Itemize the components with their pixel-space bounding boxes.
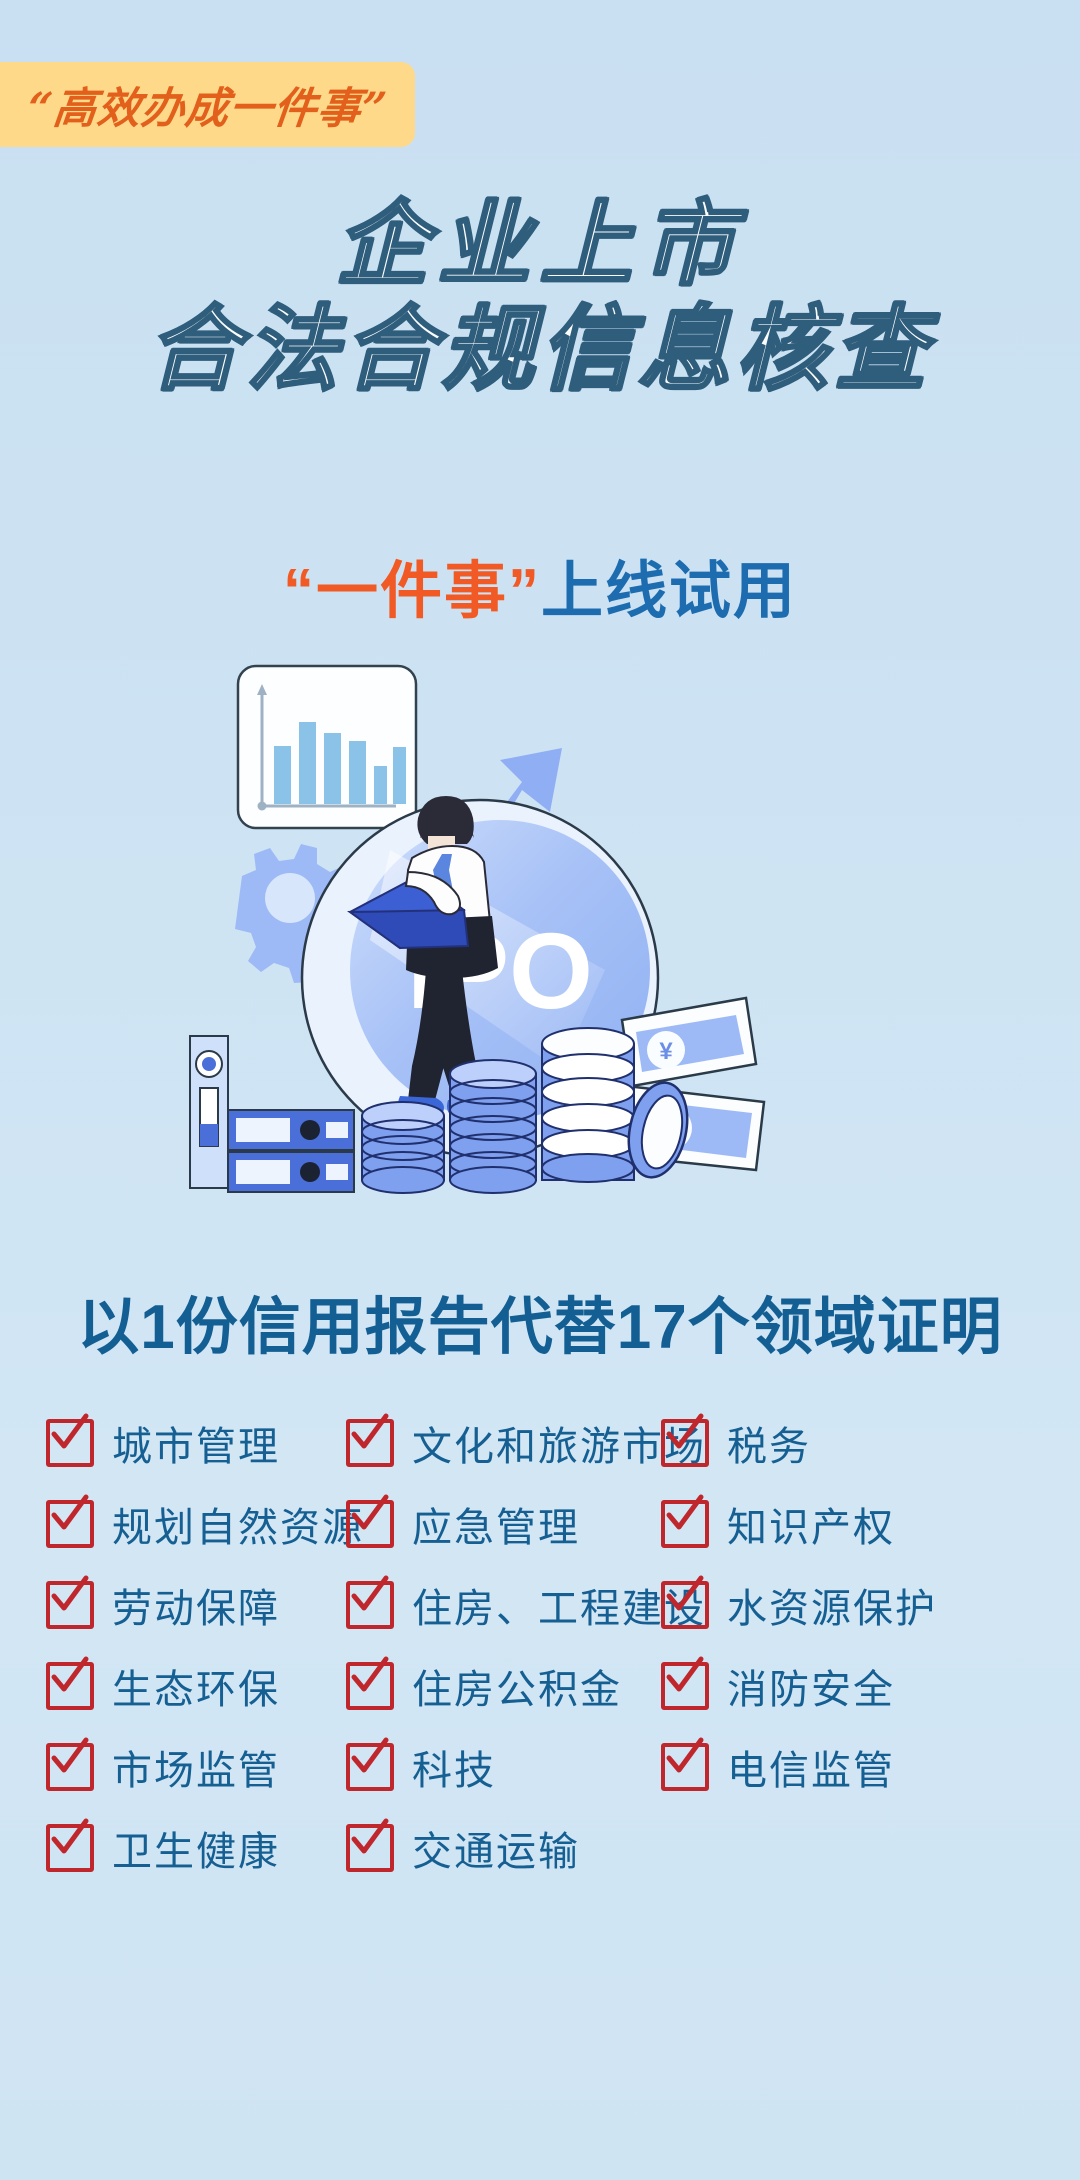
subtitle-rest: 上线试用 [541, 557, 797, 626]
coin-stack-small [362, 1102, 444, 1193]
subtitle-quote-open: “ [283, 557, 316, 626]
page-title: 企业上市 合法合规信息核查 [0, 195, 1080, 400]
checklist-column-3: 税务 知识产权 水资源保护 消防安全 [661, 1415, 961, 1901]
list-item[interactable]: 劳动保障 [46, 1577, 331, 1632]
checkbox-checked-icon[interactable] [46, 1500, 94, 1548]
list-item-label: 电信监管 [727, 1738, 895, 1796]
list-item[interactable]: 市场监管 [46, 1739, 331, 1794]
list-item-label: 税务 [727, 1414, 811, 1472]
subtitle: “一件事”上线试用 [0, 540, 1080, 630]
checkbox-checked-icon[interactable] [346, 1419, 394, 1467]
svg-text:¥: ¥ [659, 1038, 673, 1065]
coin-stack-medium [450, 1060, 536, 1193]
list-item[interactable]: 税务 [661, 1415, 961, 1470]
list-item[interactable]: 交通运输 [346, 1820, 646, 1875]
checkbox-checked-icon[interactable] [661, 1581, 709, 1629]
checkbox-checked-icon[interactable] [346, 1500, 394, 1548]
list-item-label: 水资源保护 [727, 1576, 937, 1634]
campaign-banner-text: “高效办成一件事” [25, 74, 391, 136]
bar-chart-card [238, 666, 416, 828]
checkbox-checked-icon[interactable] [346, 1824, 394, 1872]
list-item-label: 知识产权 [727, 1495, 895, 1553]
list-item-label: 城市管理 [112, 1414, 280, 1472]
checkbox-checked-icon[interactable] [346, 1581, 394, 1629]
campaign-banner: “高效办成一件事” [0, 62, 415, 147]
list-item[interactable]: 科技 [346, 1739, 646, 1794]
checkbox-checked-icon[interactable] [346, 1662, 394, 1710]
list-item-label: 卫生健康 [112, 1819, 280, 1877]
subtitle-highlight: 一件事 [316, 557, 508, 626]
subtitle-quote-close: ” [508, 557, 541, 626]
checkbox-checked-icon[interactable] [46, 1743, 94, 1791]
list-item[interactable]: 规划自然资源 [46, 1496, 331, 1551]
list-item[interactable]: 消防安全 [661, 1658, 961, 1713]
poster-root: “高效办成一件事” 企业上市 合法合规信息核查 “一件事”上线试用 [0, 0, 1080, 2180]
list-item[interactable]: 住房公积金 [346, 1658, 646, 1713]
list-item[interactable]: 电信监管 [661, 1739, 961, 1794]
list-item-label: 住房公积金 [412, 1657, 622, 1715]
list-item[interactable]: 应急管理 [346, 1496, 646, 1551]
checklist-column-1: 城市管理 规划自然资源 劳动保障 生态环保 [46, 1415, 331, 1901]
list-item[interactable]: 住房、工程建设 [346, 1577, 646, 1632]
list-item[interactable]: 生态环保 [46, 1658, 331, 1713]
checklist-column-2: 文化和旅游市场 应急管理 住房、工程建设 住房公积金 [346, 1415, 646, 1901]
domain-checklist: 城市管理 规划自然资源 劳动保障 生态环保 [46, 1415, 1046, 1901]
list-item-label: 应急管理 [412, 1495, 580, 1553]
list-item[interactable]: 水资源保护 [661, 1577, 961, 1632]
section-headline: 以1份信用报告代替17个领域证明 [0, 1276, 1080, 1366]
checkbox-checked-icon[interactable] [661, 1743, 709, 1791]
list-item[interactable]: 城市管理 [46, 1415, 331, 1470]
list-item[interactable]: 知识产权 [661, 1496, 961, 1551]
list-item-label: 科技 [412, 1738, 496, 1796]
page-title-line-1: 企业上市 [0, 195, 1080, 294]
checkbox-checked-icon[interactable] [46, 1824, 94, 1872]
list-item[interactable]: 卫生健康 [46, 1820, 331, 1875]
checkbox-checked-icon[interactable] [46, 1419, 94, 1467]
list-item[interactable]: 文化和旅游市场 [346, 1415, 646, 1470]
page-title-line-2: 合法合规信息核查 [0, 300, 1080, 399]
checkbox-checked-icon[interactable] [661, 1662, 709, 1710]
list-item-label: 消防安全 [727, 1657, 895, 1715]
coin-stack-large [542, 1028, 634, 1182]
list-item-label: 市场监管 [112, 1738, 280, 1796]
checkbox-checked-icon[interactable] [46, 1662, 94, 1710]
checkbox-checked-icon[interactable] [661, 1419, 709, 1467]
list-item-label: 劳动保障 [112, 1576, 280, 1634]
list-item-label: 交通运输 [412, 1819, 580, 1877]
list-item-label: 生态环保 [112, 1657, 280, 1715]
ipo-illustration: IPO [150, 640, 930, 1220]
list-item-label: 规划自然资源 [112, 1495, 364, 1553]
checkbox-checked-icon[interactable] [346, 1743, 394, 1791]
checkbox-checked-icon[interactable] [661, 1500, 709, 1548]
checkbox-checked-icon[interactable] [46, 1581, 94, 1629]
